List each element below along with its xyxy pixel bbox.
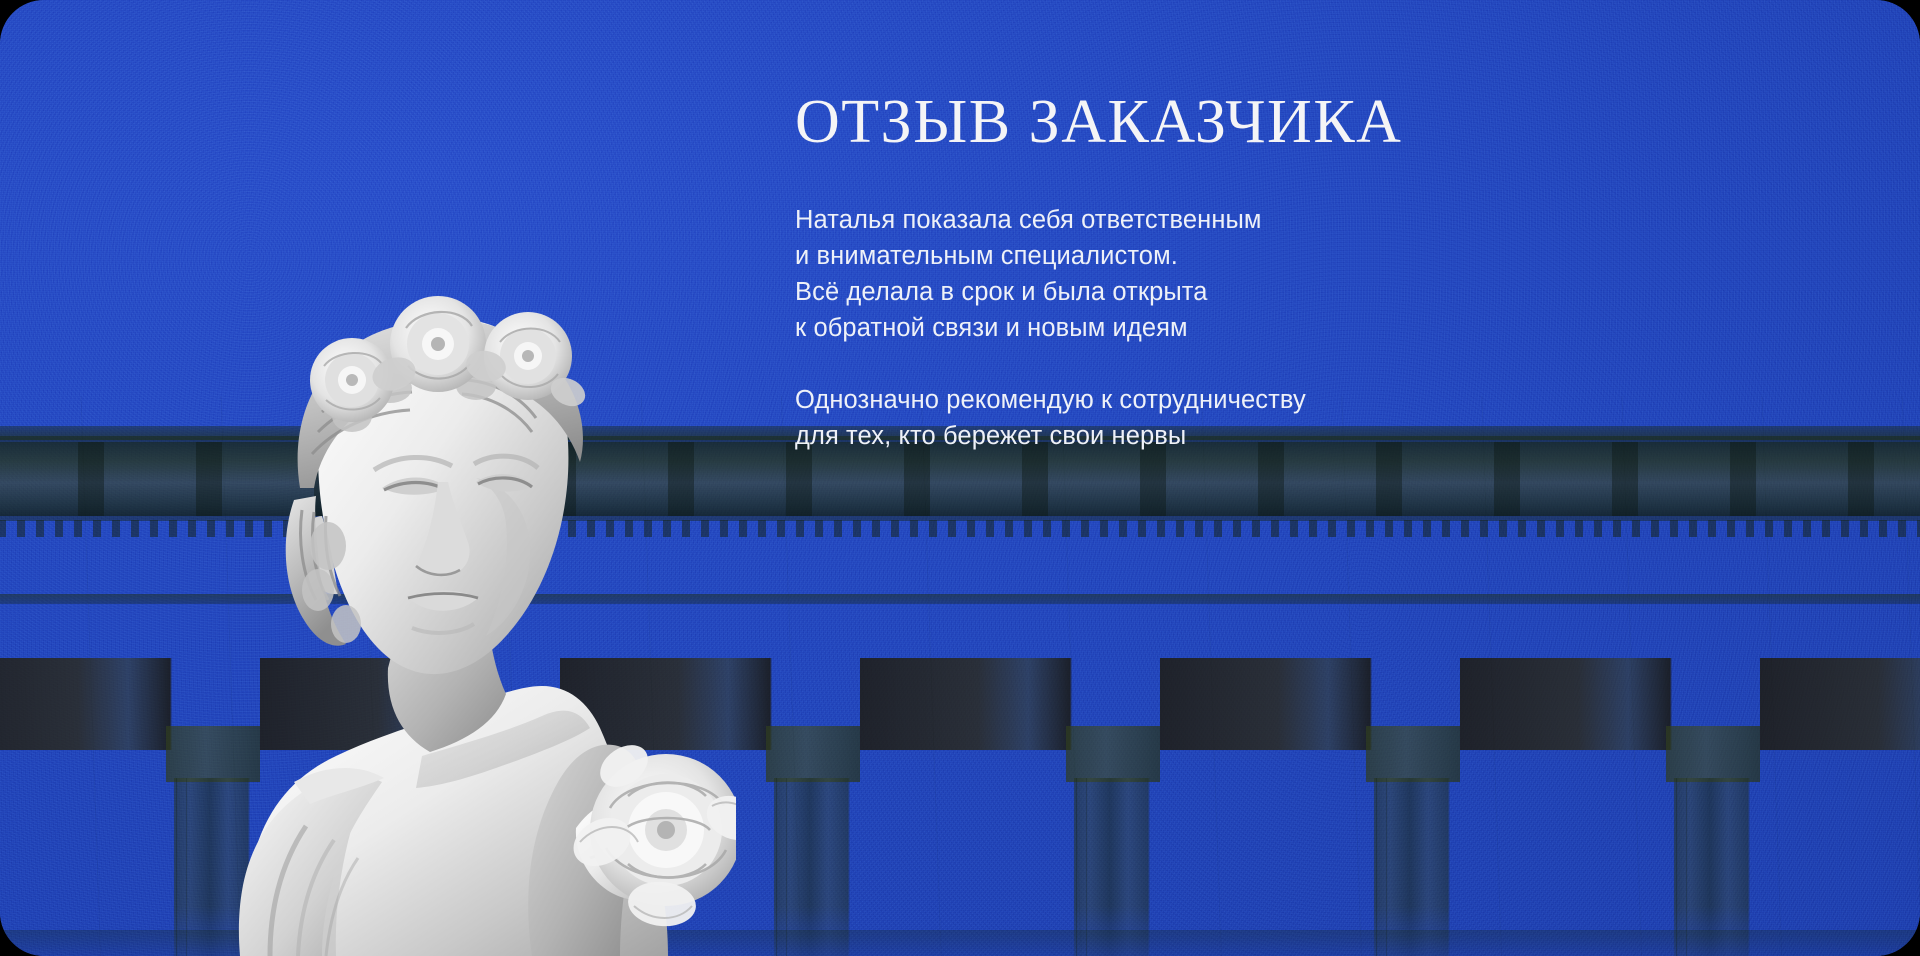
marble-statue-image	[176, 216, 736, 956]
testimonial-content: ОТЗЫВ ЗАКАЗЧИКА Наталья показала себя от…	[795, 86, 1815, 454]
paragraph-1-line-4: к обратной связи и новым идеям	[795, 310, 1815, 346]
paragraph-1-line-3: Всё делала в срок и была открыта	[795, 274, 1815, 310]
paragraph-2-line-2: для тех, кто бережет свои нервы	[795, 418, 1815, 454]
paragraph-2-line-1: Однозначно рекомендую к сотрудничеству	[795, 382, 1815, 418]
page-title: ОТЗЫВ ЗАКАЗЧИКА	[795, 86, 1815, 158]
paragraph-1-line-1: Наталья показала себя ответственным	[795, 202, 1815, 238]
statue-illustration	[176, 216, 736, 956]
paragraph-1-line-2: и внимательным специалистом.	[795, 238, 1815, 274]
testimonial-paragraph-2: Однозначно рекомендую к сотрудничеству д…	[795, 382, 1815, 454]
testimonial-paragraph-1: Наталья показала себя ответственным и вн…	[795, 202, 1815, 346]
testimonial-card: ОТЗЫВ ЗАКАЗЧИКА Наталья показала себя от…	[0, 0, 1920, 956]
